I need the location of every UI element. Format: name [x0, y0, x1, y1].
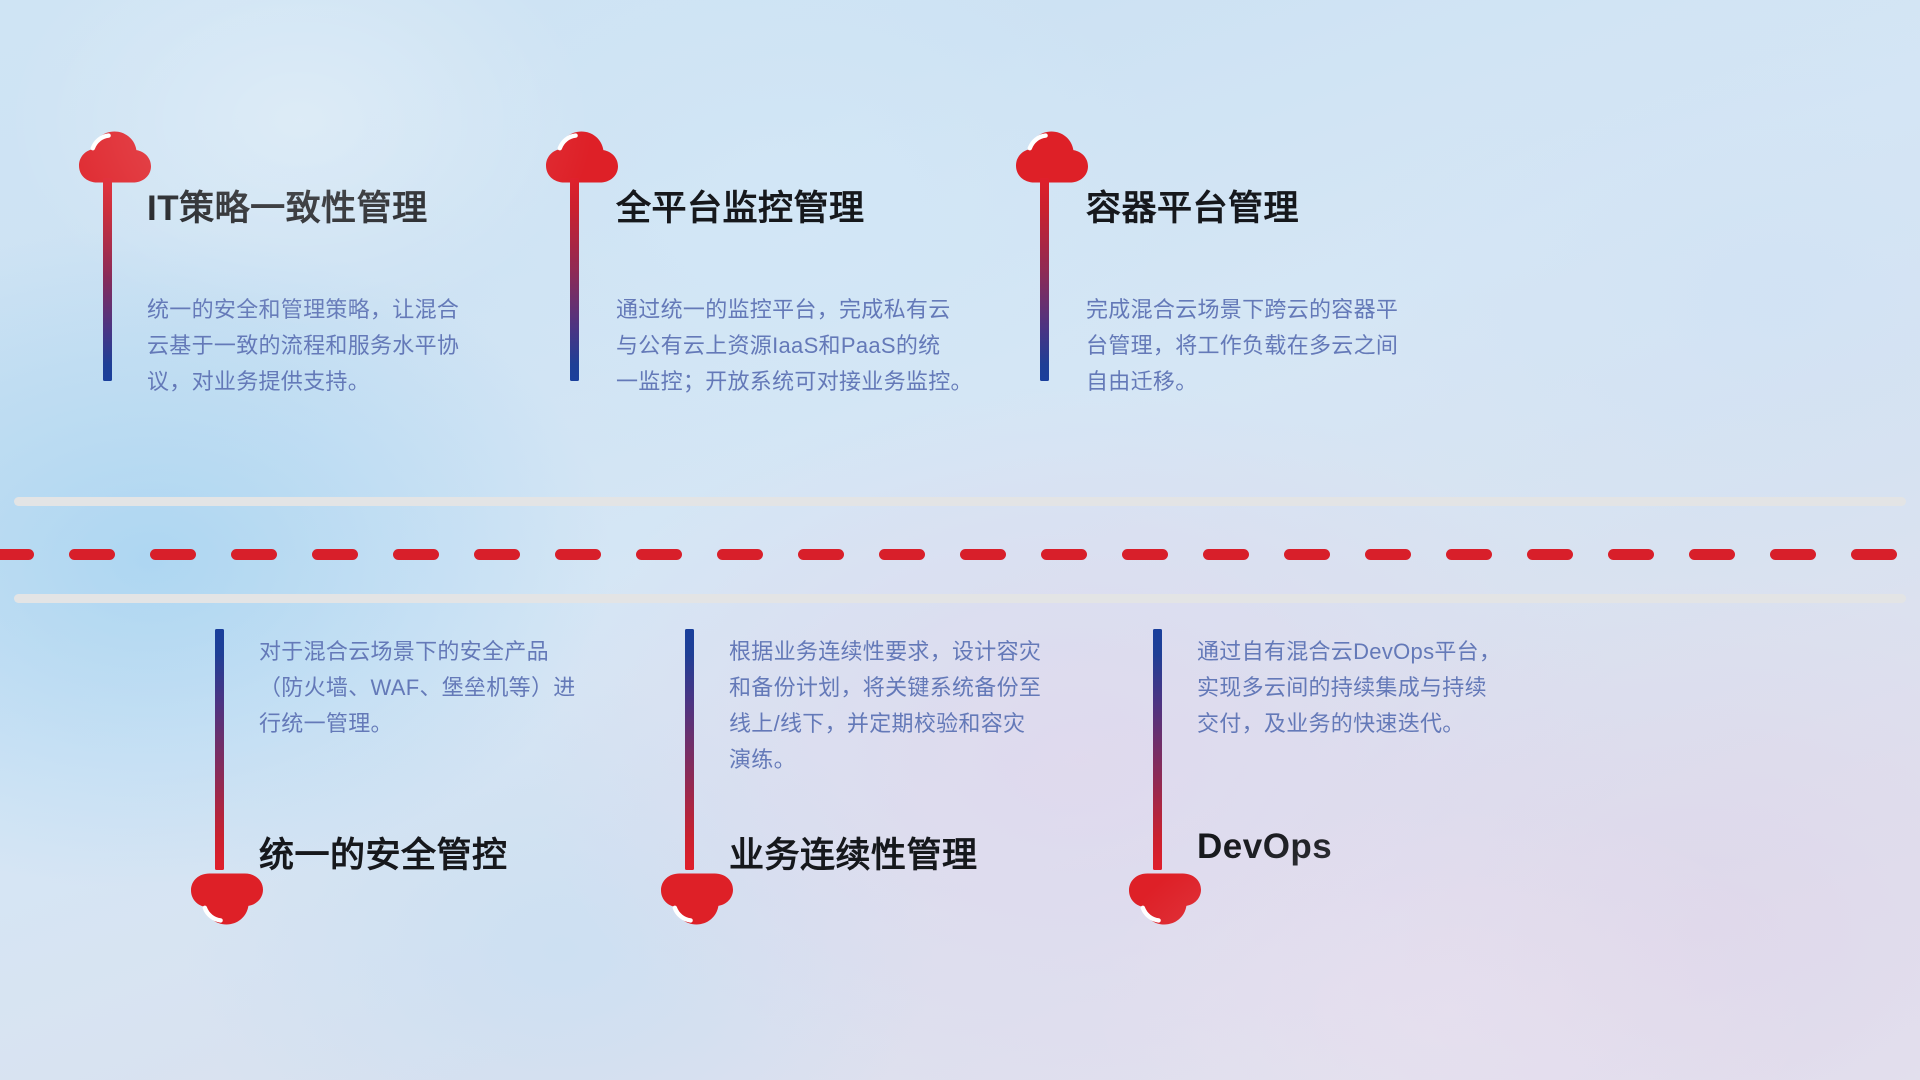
card-heading: 全平台监控管理 — [616, 180, 865, 231]
card-body-text: 通过统一的监控平台，完成私有云 与公有云上资源IaaS和PaaS的统 一监控；开… — [616, 292, 1016, 400]
dash-segment — [555, 549, 601, 560]
cloud-icon — [660, 873, 734, 925]
cloud-icon — [545, 131, 619, 183]
dash-segment — [1284, 549, 1330, 560]
dash-segment — [1770, 549, 1816, 560]
cloud-icon — [78, 131, 152, 183]
connector-line — [103, 178, 112, 381]
dash-segment — [474, 549, 520, 560]
divider-bar-bottom — [14, 594, 1906, 603]
dash-segment — [312, 549, 358, 560]
card-body-text: 通过自有混合云DevOps平台， 实现多云间的持续集成与持续 交付，及业务的快速… — [1197, 634, 1567, 742]
card-body-text: 统一的安全和管理策略，让混合 云基于一致的流程和服务水平协 议，对业务提供支持。 — [147, 292, 507, 400]
infographic-canvas: IT策略一致性管理 统一的安全和管理策略，让混合 云基于一致的流程和服务水平协 … — [0, 0, 1920, 1080]
dash-segment — [1851, 549, 1897, 560]
dash-segment — [1608, 549, 1654, 560]
dash-segment — [69, 549, 115, 560]
connector-line — [570, 178, 579, 381]
dash-segment — [1446, 549, 1492, 560]
dash-segment — [717, 549, 763, 560]
dash-segment — [636, 549, 682, 560]
dash-segment — [1689, 549, 1735, 560]
dash-segment — [798, 549, 844, 560]
dash-segment — [231, 549, 277, 560]
card-heading: 业务连续性管理 — [729, 827, 978, 878]
card-body-text: 完成混合云场景下跨云的容器平 台管理，将工作负载在多云之间 自由迁移。 — [1086, 292, 1466, 400]
dash-segment — [1203, 549, 1249, 560]
connector-line — [1040, 178, 1049, 381]
connector-line — [685, 629, 694, 870]
card-heading: IT策略一致性管理 — [147, 180, 428, 231]
dash-segment — [150, 549, 196, 560]
card-body-text: 对于混合云场景下的安全产品 （防火墙、WAF、堡垒机等）进 行统一管理。 — [259, 634, 629, 742]
dashed-divider — [0, 549, 1920, 560]
cloud-icon — [1015, 131, 1089, 183]
card-heading: 统一的安全管控 — [259, 827, 508, 878]
dash-segment — [1122, 549, 1168, 560]
card-body-text: 根据业务连续性要求，设计容灾 和备份计划，将关键系统备份至 线上/线下，并定期校… — [729, 634, 1099, 778]
card-heading: DevOps — [1197, 827, 1332, 867]
connector-line — [215, 629, 224, 870]
dash-segment — [1527, 549, 1573, 560]
divider-bar-top — [14, 497, 1906, 506]
dash-segment — [1365, 549, 1411, 560]
dash-segment — [960, 549, 1006, 560]
cloud-icon — [1128, 873, 1202, 925]
dash-segment — [0, 549, 34, 560]
dash-segment — [879, 549, 925, 560]
cloud-icon — [190, 873, 264, 925]
dash-segment — [393, 549, 439, 560]
dash-segment — [1041, 549, 1087, 560]
card-heading: 容器平台管理 — [1086, 180, 1299, 231]
connector-line — [1153, 629, 1162, 870]
